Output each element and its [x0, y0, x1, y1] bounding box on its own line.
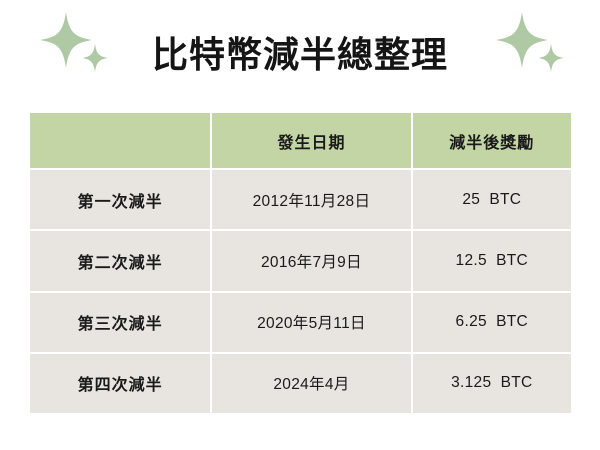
column-header-date: 發生日期	[212, 113, 410, 168]
table-header-row: 發生日期 減半後獎勵	[30, 113, 571, 168]
cell-date: 2016年7月9日	[212, 231, 410, 290]
cell-event: 第四次減半	[30, 354, 210, 413]
table-row: 第一次減半 2012年11月28日 25 BTC	[30, 170, 571, 229]
table-row: 第三次減半 2020年5月11日 6.25 BTC	[30, 293, 571, 352]
halving-summary-table: 發生日期 減半後獎勵 第一次減半 2012年11月28日 25 BTC 第二次減…	[30, 113, 571, 413]
table-row: 第四次減半 2024年4月 3.125 BTC	[30, 354, 571, 413]
title-block: 比特幣減半總整理	[0, 22, 600, 92]
slide-canvas: 比特幣減半總整理 發生日期 減半後獎勵 第一次減半 2012年11月28日 25…	[0, 0, 600, 450]
cell-date: 2020年5月11日	[212, 293, 410, 352]
cell-reward: 12.5 BTC	[413, 231, 571, 290]
cell-date: 2012年11月28日	[212, 170, 410, 229]
cell-reward: 3.125 BTC	[413, 354, 571, 413]
cell-event: 第三次減半	[30, 293, 210, 352]
cell-reward: 6.25 BTC	[413, 293, 571, 352]
column-header-reward: 減半後獎勵	[413, 113, 571, 168]
cell-reward: 25 BTC	[413, 170, 571, 229]
cell-event: 第二次減半	[30, 231, 210, 290]
page-title: 比特幣減半總整理	[0, 22, 600, 88]
cell-date: 2024年4月	[212, 354, 410, 413]
column-header-event	[30, 113, 210, 168]
cell-event: 第一次減半	[30, 170, 210, 229]
table-row: 第二次減半 2016年7月9日 12.5 BTC	[30, 231, 571, 290]
